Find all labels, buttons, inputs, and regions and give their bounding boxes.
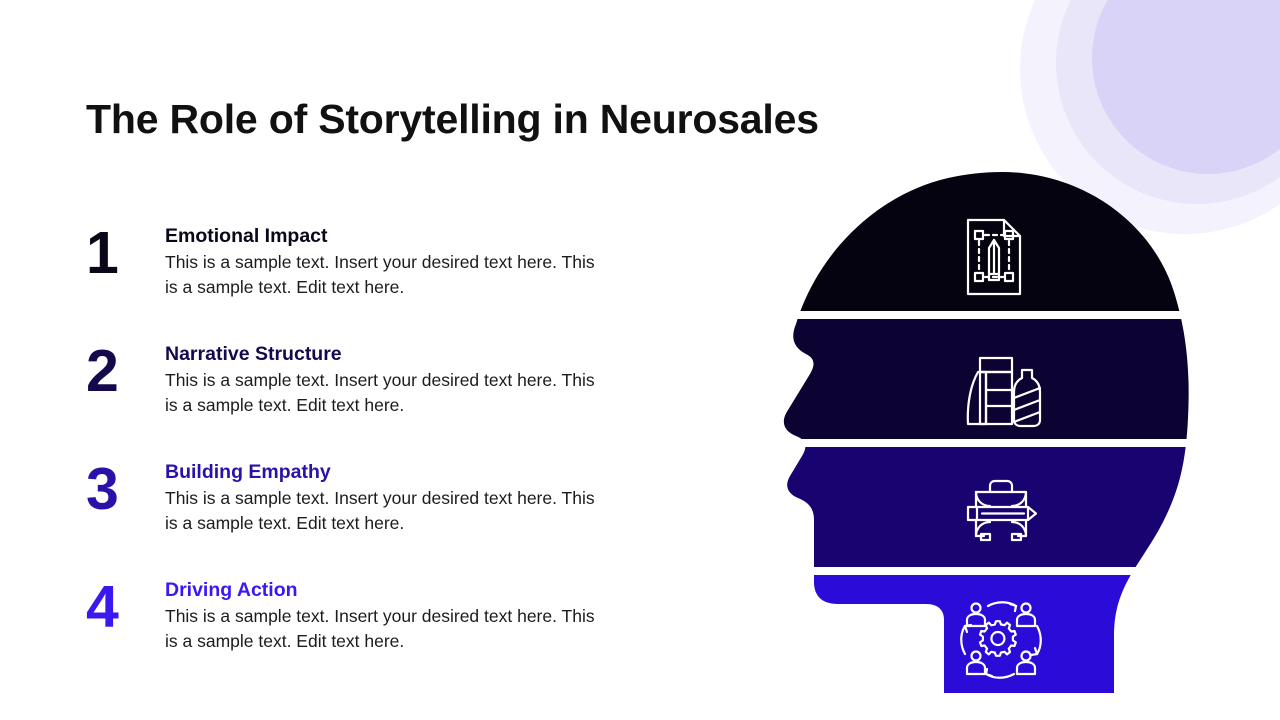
list-item-number: 2: [86, 342, 152, 401]
list-item: 4 Driving Action This is a sample text. …: [86, 568, 626, 686]
list-item: 1 Emotional Impact This is a sample text…: [86, 214, 626, 332]
jaw-band: [752, 575, 1212, 713]
list-item-number: 4: [86, 578, 152, 637]
list-item: 3 Building Empathy This is a sample text…: [86, 450, 626, 568]
slide-title: The Role of Storytelling in Neurosales: [86, 96, 819, 143]
list-item-body: Emotional Impact This is a sample text. …: [165, 224, 605, 300]
list-item-description: This is a sample text. Insert your desir…: [165, 368, 605, 418]
list-item: 2 Narrative Structure This is a sample t…: [86, 332, 626, 450]
list-item-body: Driving Action This is a sample text. In…: [165, 578, 605, 654]
list-item-description: This is a sample text. Insert your desir…: [165, 604, 605, 654]
list-item-number: 1: [86, 224, 152, 283]
list-item-title: Emotional Impact: [165, 224, 605, 248]
list-item-title: Building Empathy: [165, 460, 605, 484]
head-diagram: [752, 168, 1212, 713]
list-item-title: Driving Action: [165, 578, 605, 602]
list-item-body: Narrative Structure This is a sample tex…: [165, 342, 605, 418]
decorative-circle-inner: [1092, 0, 1280, 174]
list-item-body: Building Empathy This is a sample text. …: [165, 460, 605, 536]
numbered-list: 1 Emotional Impact This is a sample text…: [86, 214, 626, 686]
list-item-number: 3: [86, 460, 152, 519]
list-item-description: This is a sample text. Insert your desir…: [165, 250, 605, 300]
list-item-title: Narrative Structure: [165, 342, 605, 366]
list-item-description: This is a sample text. Insert your desir…: [165, 486, 605, 536]
forehead-band: [752, 319, 1212, 439]
